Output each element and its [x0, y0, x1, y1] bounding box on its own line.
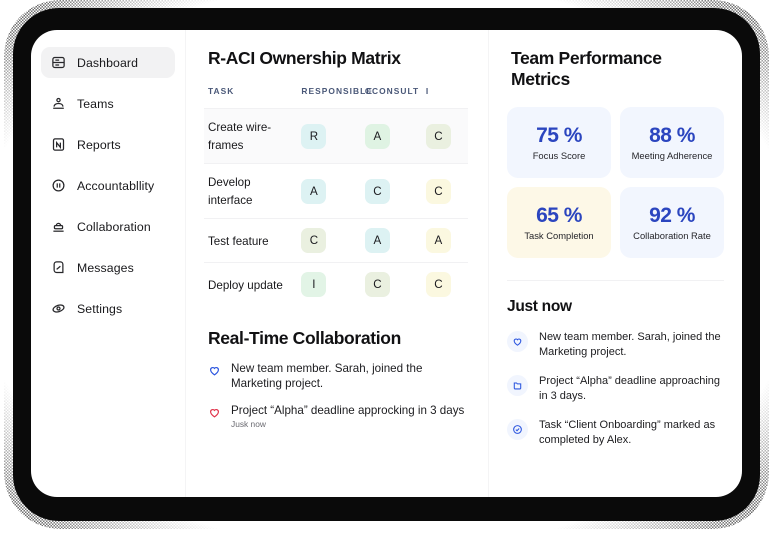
message-icon: [51, 260, 66, 275]
column-header-consult: CCONSULT: [361, 86, 422, 109]
sidebar-item-dashboard[interactable]: Dashboard: [41, 47, 175, 78]
column-header-informed: I: [422, 86, 468, 109]
task-cell: Create wire-frames: [204, 109, 297, 164]
metric-label: Collaboration Rate: [633, 230, 711, 241]
table-row[interactable]: Test feature C A A: [204, 219, 468, 263]
sidebar-item-messages[interactable]: Messages: [41, 252, 175, 283]
heart-icon: [208, 406, 221, 419]
task-label: Deploy update: [208, 279, 283, 292]
column-header-responsible: RESPONSIBLE: [297, 86, 361, 109]
list-item[interactable]: Project “Alpha” deadline approaching in …: [507, 374, 724, 403]
raci-badge: A: [365, 228, 390, 253]
sidebar-item-label: Accountabllity: [77, 179, 154, 193]
task-label: Create wire-frames: [208, 121, 271, 152]
metric-label: Focus Score: [533, 150, 586, 161]
metrics-grid: 75 % Focus Score 88 % Meeting Adherence …: [507, 107, 724, 258]
raci-badge: C: [426, 272, 451, 297]
list-item[interactable]: New team member. Sarah, joined the Marke…: [208, 362, 468, 392]
circle-pause-icon: [51, 178, 66, 193]
metric-card-collaboration-rate[interactable]: 92 % Collaboration Rate: [620, 187, 724, 258]
metric-card-focus-score[interactable]: 75 % Focus Score: [507, 107, 611, 178]
informed-cell: C: [422, 109, 468, 164]
metric-value: 65 %: [536, 205, 582, 226]
check-circle-icon: [507, 419, 528, 440]
metrics-title: Team Performance Metrics: [511, 48, 724, 90]
report-icon: [51, 137, 66, 152]
responsible-cell: C: [297, 219, 361, 263]
responsible-cell: I: [297, 263, 361, 307]
sidebar-item-reports[interactable]: Reports: [41, 129, 175, 160]
table-row[interactable]: Develop interface A C C: [204, 164, 468, 219]
list-item-timestamp: Jusk now: [231, 419, 464, 429]
settings-eye-icon: [51, 301, 66, 316]
sidebar-item-label: Collaboration: [77, 220, 151, 234]
responsible-cell: R: [297, 109, 361, 164]
raci-badge: C: [365, 272, 390, 297]
list-item-text: New team member. Sarah, joined the Marke…: [539, 330, 724, 359]
raci-badge: C: [301, 228, 326, 253]
users-icon: [51, 96, 66, 111]
raci-badge: I: [301, 272, 326, 297]
task-label: Test feature: [208, 235, 269, 248]
metric-card-meeting-adherence[interactable]: 88 % Meeting Adherence: [620, 107, 724, 178]
sidebar-item-label: Messages: [77, 261, 134, 275]
sidebar-item-label: Settings: [77, 302, 122, 316]
sidebar: Dashboard Teams Reports: [31, 30, 186, 497]
list-item-text: Task “Client Onboarding” marked as compl…: [539, 418, 724, 447]
sidebar-item-label: Teams: [77, 97, 114, 111]
raci-badge: A: [301, 179, 326, 204]
sidebar-item-settings[interactable]: Settings: [41, 293, 175, 324]
folder-icon: [507, 375, 528, 396]
divider: [507, 280, 724, 281]
informed-cell: C: [422, 263, 468, 307]
sidebar-item-label: Reports: [77, 138, 121, 152]
heart-icon: [208, 364, 221, 377]
list-item[interactable]: Task “Client Onboarding” marked as compl…: [507, 418, 724, 447]
sidebar-item-label: Dashboard: [77, 56, 138, 70]
table-body: Create wire-frames R A C Develop interfa…: [204, 109, 468, 307]
consult-cell: A: [361, 219, 422, 263]
metric-card-task-completion[interactable]: 65 % Task Completion: [507, 187, 611, 258]
raci-badge: C: [426, 124, 451, 149]
task-cell: Develop interface: [204, 164, 297, 219]
app-screen: Dashboard Teams Reports: [31, 30, 742, 497]
feed-title: Just now: [507, 298, 724, 316]
raci-badge: A: [365, 124, 390, 149]
table-header: TASK RESPONSIBLE CCONSULT I: [204, 86, 468, 109]
metric-value: 92 %: [649, 205, 695, 226]
realtime-collaboration-section: Real-Time Collaboration New team member.…: [204, 328, 468, 429]
task-cell: Deploy update: [204, 263, 297, 307]
task-label: Develop interface: [208, 176, 252, 207]
matrix-title: R-ACI Ownership Matrix: [208, 48, 468, 69]
raci-badge: A: [426, 228, 451, 253]
table-row[interactable]: Create wire-frames R A C: [204, 109, 468, 164]
right-column: Team Performance Metrics 75 % Focus Scor…: [489, 30, 742, 497]
raci-badge: R: [301, 124, 326, 149]
list-item[interactable]: Project “Alpha” deadline approcking in 3…: [208, 404, 468, 430]
metric-label: Task Completion: [524, 230, 593, 241]
sidebar-item-collaboration[interactable]: Collaboration: [41, 211, 175, 242]
sidebar-item-accountability[interactable]: Accountabllity: [41, 170, 175, 201]
metric-value: 88 %: [649, 125, 695, 146]
informed-cell: A: [422, 219, 468, 263]
stamp-icon: [51, 219, 66, 234]
raci-matrix-table: TASK RESPONSIBLE CCONSULT I Create wire-…: [204, 86, 468, 306]
task-cell: Test feature: [204, 219, 297, 263]
metric-value: 75 %: [536, 125, 582, 146]
raci-badge: C: [426, 179, 451, 204]
sidebar-item-teams[interactable]: Teams: [41, 88, 175, 119]
list-item[interactable]: New team member. Sarah, joined the Marke…: [507, 330, 724, 359]
column-header-task: TASK: [204, 86, 297, 109]
list-item-text: New team member. Sarah, joined the Marke…: [231, 362, 468, 392]
consult-cell: C: [361, 263, 422, 307]
consult-cell: C: [361, 164, 422, 219]
main-column: R-ACI Ownership Matrix TASK RESPONSIBLE …: [186, 30, 489, 497]
informed-cell: C: [422, 164, 468, 219]
consult-cell: A: [361, 109, 422, 164]
realtime-title: Real-Time Collaboration: [208, 328, 468, 349]
table-row[interactable]: Deploy update I C C: [204, 263, 468, 307]
metric-label: Meeting Adherence: [632, 150, 713, 161]
table-header-row: TASK RESPONSIBLE CCONSULT I: [204, 86, 468, 109]
list-item-text: Project “Alpha” deadline approcking in 3…: [231, 404, 464, 419]
responsible-cell: A: [297, 164, 361, 219]
heart-icon: [507, 331, 528, 352]
raci-badge: C: [365, 179, 390, 204]
list-item-text: Project “Alpha” deadline approaching in …: [539, 374, 724, 403]
layout-icon: [51, 55, 66, 70]
